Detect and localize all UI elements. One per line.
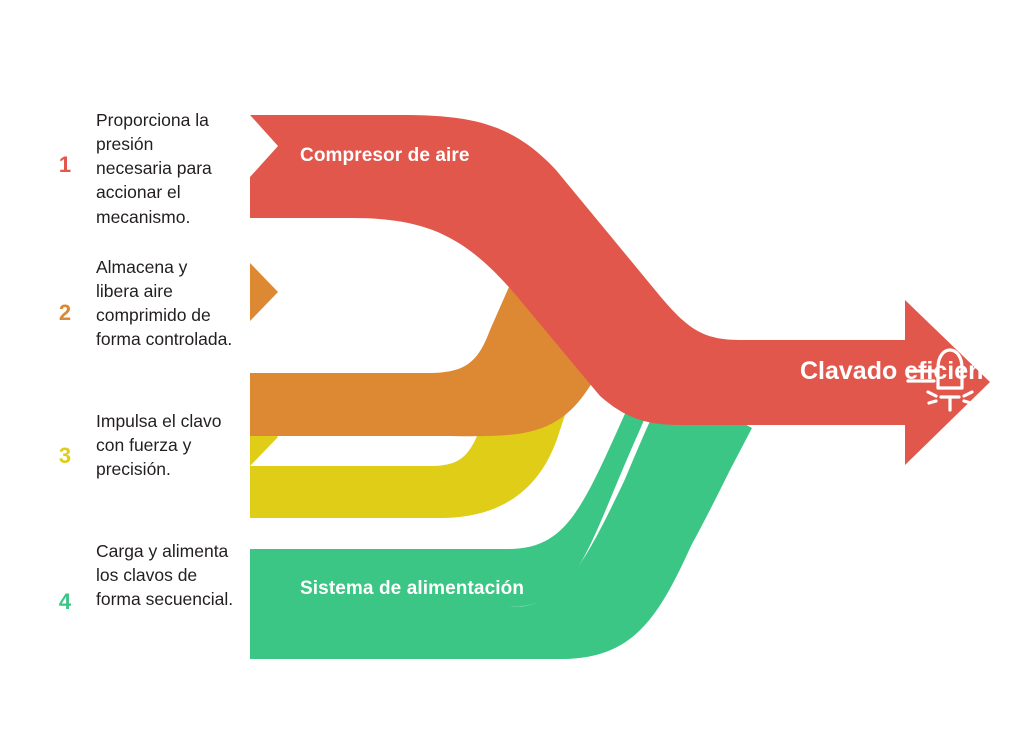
step-description-2: Almacena y libera aire comprimido de for…	[96, 255, 234, 352]
band-label-3: Pistón y émbolo	[300, 434, 448, 458]
step-description-1: Proporciona la presión necesaria para ac…	[96, 108, 234, 229]
step-description-3: Impulsa el clavo con fuerza y precisión.	[96, 409, 234, 481]
band-label-4: Sistema de alimentación	[300, 577, 524, 601]
step-number-1: 1	[52, 152, 78, 178]
step-number-2: 2	[52, 300, 78, 326]
result-label: Clavado eficiente	[800, 356, 1006, 387]
band-label-2: Cámara de presión	[300, 289, 473, 313]
step-number-3: 3	[52, 443, 78, 469]
band-label-1: Compresor de aire	[300, 144, 470, 168]
diagram-canvas: 1 Proporciona la presión necesaria para …	[0, 0, 1020, 745]
step-number-4: 4	[52, 589, 78, 615]
step-description-4: Carga y alimenta los clavos de forma sec…	[96, 539, 234, 611]
